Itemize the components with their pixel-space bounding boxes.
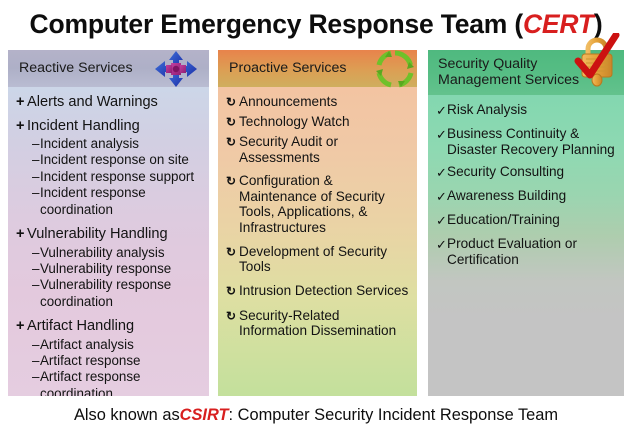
circular-arrow-bullet-icon: ↻ — [226, 308, 239, 325]
sub-list-item-label: Vulnerability response — [40, 261, 203, 277]
dash-bullet-icon: – — [32, 152, 40, 168]
sub-list-item-label: Incident analysis — [40, 136, 203, 152]
list-item[interactable]: ✓ Awareness Building — [436, 188, 618, 205]
list-item[interactable]: ↻ Announcements — [226, 94, 411, 111]
check-bullet-icon: ✓ — [436, 212, 447, 229]
list-item-label: Security-Related Information Disseminati… — [239, 308, 411, 339]
sub-list-item[interactable]: – Vulnerability response coordination — [16, 277, 203, 310]
sub-list-item[interactable]: – Incident response on site — [16, 152, 203, 168]
panel-body-proactive: ↻ Announcements ↻ Technology Watch ↻ Sec… — [218, 87, 417, 396]
list-item-label: Awareness Building — [447, 188, 618, 204]
dash-bullet-icon: – — [32, 369, 40, 385]
spacer — [16, 310, 203, 318]
list-item-label: Technology Watch — [239, 114, 411, 130]
slide-canvas: Computer Emergency Response Team (CERT) … — [0, 0, 632, 431]
check-bullet-icon: ✓ — [436, 236, 447, 253]
circular-arrow-bullet-icon: ↻ — [226, 94, 239, 111]
padlock-check-icon — [572, 33, 622, 88]
dash-bullet-icon: – — [32, 277, 40, 293]
sub-list-item-label: Vulnerability response coordination — [40, 277, 203, 310]
list-item-label: Risk Analysis — [447, 102, 618, 118]
list-item-label: Security Audit or Assessments — [239, 134, 411, 165]
sub-list-item-label: Incident response coordination — [40, 185, 203, 218]
dash-bullet-icon: – — [32, 169, 40, 185]
panel-header-proactive-label: Proactive Services — [229, 61, 346, 77]
panel-reactive-services[interactable]: Reactive Services + Alerts and Warnings … — [8, 50, 209, 396]
list-item[interactable]: ✓ Business Continuity & Disaster Recover… — [436, 126, 618, 157]
circular-arrow-bullet-icon: ↻ — [226, 114, 239, 131]
proactive-service-list: ↻ Announcements ↻ Technology Watch ↻ Sec… — [218, 87, 417, 339]
list-item-label: Artifact Handling — [27, 318, 203, 336]
footer-accent: CSIRT — [180, 406, 229, 425]
list-item-label: Education/Training — [447, 212, 618, 228]
panel-header-reactive-label: Reactive Services — [19, 61, 133, 77]
panel-body-quality: ✓ Risk Analysis ✓ Business Continuity & … — [428, 95, 624, 396]
spacer — [16, 218, 203, 226]
reactive-service-list: + Alerts and Warnings + Incident Handlin… — [8, 87, 209, 396]
list-item-label: Vulnerability Handling — [27, 226, 203, 244]
sub-list-item[interactable]: – Incident response support — [16, 169, 203, 185]
sub-list-item-label: Vulnerability analysis — [40, 245, 203, 261]
list-item[interactable]: ✓ Education/Training — [436, 212, 618, 229]
list-item[interactable]: ✓ Product Evaluation or Certification — [436, 236, 618, 267]
list-item-label: Development of Security Tools — [239, 244, 411, 275]
list-item-label: Announcements — [239, 94, 411, 110]
list-item[interactable]: + Incident Handling — [16, 118, 203, 136]
list-item[interactable]: ↻ Security-Related Information Dissemina… — [226, 308, 411, 339]
circular-arrow-bullet-icon: ↻ — [226, 134, 239, 151]
list-item[interactable]: + Alerts and Warnings — [16, 94, 203, 112]
circular-arrow-bullet-icon: ↻ — [226, 173, 239, 190]
list-item[interactable]: + Artifact Handling — [16, 318, 203, 336]
dash-bullet-icon: – — [32, 337, 40, 353]
sub-list-item[interactable]: – Vulnerability response — [16, 261, 203, 277]
list-item[interactable]: ✓ Security Consulting — [436, 164, 618, 181]
list-item-label: Configuration & Maintenance of Security … — [239, 173, 411, 235]
list-item[interactable]: ↻ Technology Watch — [226, 114, 411, 131]
four-way-arrows-icon — [152, 49, 200, 88]
sub-list-item-label: Artifact response — [40, 353, 203, 369]
plus-bullet-icon: + — [16, 318, 27, 336]
check-bullet-icon: ✓ — [436, 102, 447, 119]
list-item-label: Alerts and Warnings — [27, 94, 203, 112]
list-item-label: Business Continuity & Disaster Recovery … — [447, 126, 618, 157]
sub-list-item-label: Incident response support — [40, 169, 203, 185]
dash-bullet-icon: – — [32, 136, 40, 152]
page-title: Computer Emergency Response Team (CERT) — [0, 2, 632, 46]
list-item[interactable]: ↻ Intrusion Detection Services — [226, 283, 411, 300]
sub-list-item[interactable]: – Incident response coordination — [16, 185, 203, 218]
dash-bullet-icon: – — [32, 245, 40, 261]
list-item[interactable]: ↻ Development of Security Tools — [226, 244, 411, 275]
plus-bullet-icon: + — [16, 94, 27, 112]
sub-list-item-label: Incident response on site — [40, 152, 203, 168]
sub-list-item[interactable]: – Artifact response coordination — [16, 369, 203, 396]
sub-list-item[interactable]: – Incident analysis — [16, 136, 203, 152]
dash-bullet-icon: – — [32, 353, 40, 369]
sub-list-item[interactable]: – Vulnerability analysis — [16, 245, 203, 261]
circular-arrow-bullet-icon: ↻ — [226, 244, 239, 261]
check-bullet-icon: ✓ — [436, 164, 447, 181]
circular-arrow-bullet-icon: ↻ — [226, 283, 239, 300]
panel-security-quality-management-services[interactable]: Security Quality Management Services ✓ R… — [428, 50, 624, 396]
sub-list-item-label: Artifact response coordination — [40, 369, 203, 396]
list-item-label: Incident Handling — [27, 118, 203, 136]
list-item[interactable]: ✓ Risk Analysis — [436, 102, 618, 119]
dash-bullet-icon: – — [32, 261, 40, 277]
list-item[interactable]: ↻ Configuration & Maintenance of Securit… — [226, 173, 411, 235]
plus-bullet-icon: + — [16, 226, 27, 244]
panel-proactive-services[interactable]: Proactive Services ↻ Announcements ↻ Tec… — [218, 50, 417, 396]
list-item-label: Intrusion Detection Services — [239, 283, 411, 299]
list-item-label: Security Consulting — [447, 164, 618, 180]
list-item-label: Product Evaluation or Certification — [447, 236, 618, 267]
check-bullet-icon: ✓ — [436, 188, 447, 205]
sub-list-item[interactable]: – Artifact response — [16, 353, 203, 369]
list-item[interactable]: + Vulnerability Handling — [16, 226, 203, 244]
sub-list-item[interactable]: – Artifact analysis — [16, 337, 203, 353]
footer-note: Also known as CSIRT : Computer Security … — [0, 400, 632, 430]
dash-bullet-icon: – — [32, 185, 40, 201]
plus-bullet-icon: + — [16, 118, 27, 136]
panel-body-reactive: + Alerts and Warnings + Incident Handlin… — [8, 87, 209, 396]
check-bullet-icon: ✓ — [436, 126, 447, 143]
page-title-prefix: Computer Emergency Response Team ( — [30, 9, 523, 40]
quality-service-list: ✓ Risk Analysis ✓ Business Continuity & … — [428, 95, 624, 267]
circular-arrows-icon — [374, 49, 416, 88]
footer-prefix: Also known as — [74, 406, 180, 425]
footer-suffix: : Computer Security Incident Response Te… — [229, 406, 559, 425]
sub-list-item-label: Artifact analysis — [40, 337, 203, 353]
list-item[interactable]: ↻ Security Audit or Assessments — [226, 134, 411, 165]
